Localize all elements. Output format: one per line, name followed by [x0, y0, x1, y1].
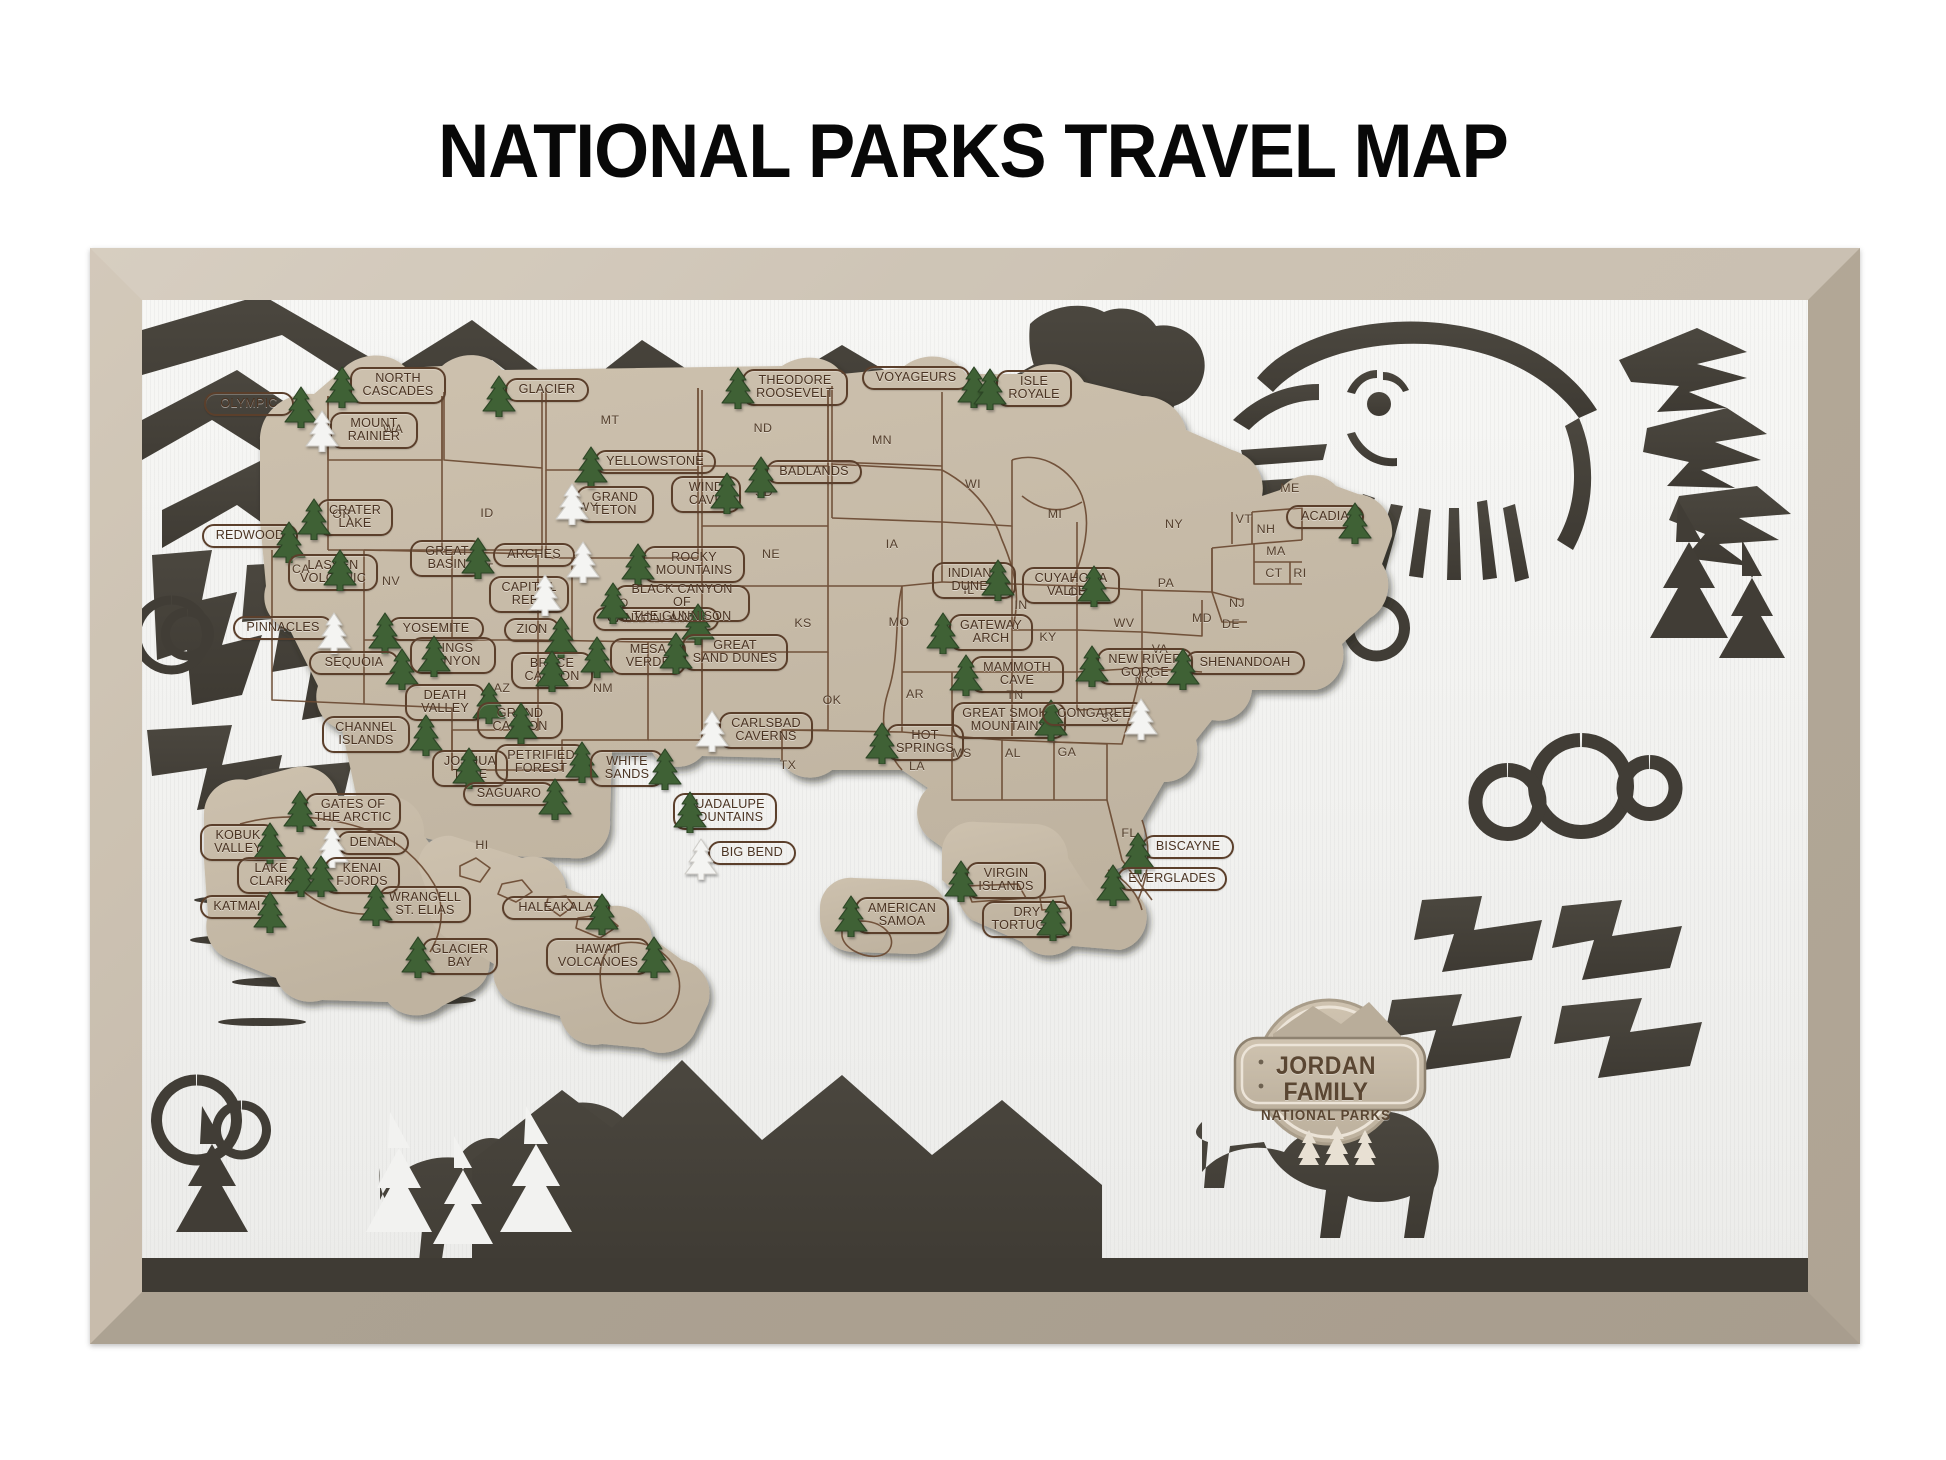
state-abbr-wv: WV [1114, 616, 1135, 630]
family-badge: JORDAN FAMILY NATIONAL PARKS [1217, 990, 1435, 1165]
tree-marker-bryce-canyon-visited[interactable] [535, 650, 569, 692]
tree-marker-kenai-fjords-visited[interactable] [304, 855, 338, 897]
tree-marker-glacier-bay-visited[interactable] [401, 936, 435, 978]
state-abbr-mo: MO [889, 615, 910, 629]
map-artwork-panel: WAORIDMTNDSDNEMNWIIAILMIINOHPANYWVKYMOKS… [142, 300, 1808, 1292]
state-abbr-nj: NJ [1229, 596, 1245, 610]
state-abbr-ky: KY [1039, 630, 1056, 644]
tree-marker-yellowstone-visited[interactable] [574, 446, 608, 488]
tree-marker-congaree-unvisited[interactable] [1124, 698, 1158, 740]
state-abbr-ks: KS [794, 616, 811, 630]
tree-marker-great-sand-dunes-visited[interactable] [659, 632, 693, 674]
state-abbr-nd: ND [754, 421, 773, 435]
state-abbr-nm: NM [593, 681, 613, 695]
tree-marker-mount-rainier-unvisited[interactable] [305, 410, 339, 452]
tree-marker-great-basin-visited[interactable] [461, 537, 495, 579]
tree-marker-badlands-visited[interactable] [744, 456, 778, 498]
tree-marker-guadalupe-mountains-visited[interactable] [673, 791, 707, 833]
park-label-olympic[interactable]: OLYMPIC [204, 392, 294, 416]
tree-marker-hawaii-volcanoes-visited[interactable] [637, 936, 671, 978]
park-label-carlsbad-caverns[interactable]: CARLSBAD CAVERNS [719, 712, 813, 749]
tree-marker-glacier-visited[interactable] [482, 375, 516, 417]
park-label-american-samoa[interactable]: AMERICAN SAMOA [855, 897, 949, 934]
tree-marker-mesa-verde-visited[interactable] [580, 636, 614, 678]
park-label-isle-royale[interactable]: ISLE ROYALE [996, 370, 1072, 407]
state-abbr-vt: VT [1236, 512, 1253, 526]
state-abbr-ga: GA [1058, 745, 1077, 759]
page-title: NATIONAL PARKS TRAVEL MAP [68, 108, 1878, 195]
state-abbr-ny: NY [1165, 517, 1183, 531]
state-abbr-mi: MI [1048, 507, 1063, 521]
tree-marker-grand-teton-unvisited[interactable] [555, 483, 589, 525]
tree-marker-american-samoa-visited[interactable] [834, 895, 868, 937]
state-abbr-nh: NH [1257, 522, 1276, 536]
tree-marker-white-sands-visited[interactable] [648, 748, 682, 790]
park-label-great-sand-dunes[interactable]: GREAT SAND DUNES [682, 634, 788, 671]
park-label-gates-of-the-arctic[interactable]: GATES OF THE ARCTIC [305, 793, 401, 830]
tree-marker-katmai-visited[interactable] [253, 891, 287, 933]
state-abbr-mn: MN [872, 433, 892, 447]
tree-marker-shenandoah-visited[interactable] [1166, 648, 1200, 690]
park-label-everglades[interactable]: EVERGLADES [1117, 867, 1227, 891]
park-label-voyageurs[interactable]: VOYAGEURS [862, 366, 970, 390]
state-abbr-ok: OK [823, 693, 842, 707]
park-label-badlands[interactable]: BADLANDS [766, 460, 862, 484]
state-abbr-ne: NE [762, 547, 780, 561]
tree-marker-cuyahoga-valley-visited[interactable] [1077, 565, 1111, 607]
tree-marker-isle-royale-visited[interactable] [973, 368, 1007, 410]
tree-marker-big-bend-unvisited[interactable] [684, 838, 718, 880]
tree-marker-virgin-islands-visited[interactable] [944, 860, 978, 902]
state-abbr-ct: CT [1265, 566, 1282, 580]
tree-marker-mammoth-cave-visited[interactable] [949, 654, 983, 696]
tree-marker-north-cascades-visited[interactable] [325, 366, 359, 408]
park-label-theodore-roosevelt[interactable]: THEODORE ROOSEVELT [742, 369, 848, 406]
state-abbr-la: LA [909, 759, 925, 773]
badge-line-2: FAMILY [1226, 1078, 1427, 1107]
tree-marker-capitol-reef-unvisited[interactable] [528, 574, 562, 616]
park-label-virgin-islands[interactable]: VIRGIN ISLANDS [966, 862, 1046, 899]
park-label-arches[interactable]: ARCHES [493, 543, 575, 567]
state-abbr-tx: TX [780, 758, 797, 772]
tree-marker-saguaro-visited[interactable] [538, 778, 572, 820]
tree-marker-wind-cave-visited[interactable] [710, 472, 744, 514]
tree-marker-dry-tortugas-visited[interactable] [1036, 899, 1070, 941]
tree-marker-rocky-mountains-visited[interactable] [621, 543, 655, 585]
state-abbr-pa: PA [1158, 576, 1174, 590]
tree-marker-grand-canyon-visited[interactable] [504, 702, 538, 744]
badge-line-3: NATIONAL PARKS [1226, 1108, 1427, 1124]
state-abbr-de: DE [1222, 617, 1240, 631]
park-label-hawaii-volcanoes[interactable]: HAWAII VOLCANOES [546, 938, 650, 975]
badge-line-1: JORDAN [1226, 1052, 1427, 1081]
state-abbr-ri: RI [1293, 566, 1306, 580]
state-abbr-nv: NV [382, 574, 400, 588]
park-label-yellowstone[interactable]: YELLOWSTONE [594, 450, 716, 474]
park-label-shenandoah[interactable]: SHENANDOAH [1185, 651, 1305, 675]
tree-marker-arches-unvisited[interactable] [566, 541, 600, 583]
tree-marker-lassen-volcanic-visited[interactable] [323, 549, 357, 591]
state-abbr-ar: AR [906, 687, 924, 701]
park-label-gateway-arch[interactable]: GATEWAY ARCH [949, 614, 1033, 651]
tree-marker-acadia-visited[interactable] [1338, 502, 1372, 544]
state-abbr-wi: WI [965, 477, 981, 491]
tree-marker-hot-springs-visited[interactable] [865, 722, 899, 764]
tree-marker-kings-canyon-visited[interactable] [417, 635, 451, 677]
tree-marker-everglades-visited[interactable] [1096, 864, 1130, 906]
tree-marker-black-canyon-of-the-gunnison-visited[interactable] [596, 582, 630, 624]
park-label-biscayne[interactable]: BISCAYNE [1142, 835, 1234, 859]
park-label-big-bend[interactable]: BIG BEND [708, 841, 796, 865]
state-abbr-mt: MT [601, 413, 620, 427]
park-label-channel-islands[interactable]: CHANNEL ISLANDS [322, 716, 410, 753]
national-parks-travel-map-page: NATIONAL PARKS TRAVEL MAP [0, 0, 1946, 1460]
tree-marker-gates-of-the-arctic-visited[interactable] [283, 790, 317, 832]
tree-marker-wrangell-st-elias-visited[interactable] [359, 884, 393, 926]
tree-marker-indiana-dunes-visited[interactable] [981, 559, 1015, 601]
park-label-mammoth-cave[interactable]: MAMMOTH CAVE [970, 656, 1064, 693]
park-label-mount-rainier[interactable]: MOUNT RAINIER [330, 412, 418, 449]
state-abbr-hi: HI [475, 838, 488, 852]
park-label-black-canyon-of-the-gunnison[interactable]: BLACK CANYON OF THE GUNNISON [614, 585, 750, 622]
tree-marker-new-river-gorge-visited[interactable] [1075, 645, 1109, 687]
state-abbr-al: AL [1005, 746, 1021, 760]
map-board-layer: WAORIDMTNDSDNEMNWIIAILMIINOHPANYWVKYMOKS… [142, 300, 1808, 1292]
tree-marker-pinnacles-unvisited[interactable] [317, 612, 351, 654]
tree-marker-carlsbad-caverns-unvisited[interactable] [695, 710, 729, 752]
state-abbr-md: MD [1192, 611, 1212, 625]
state-abbr-ia: IA [886, 537, 899, 551]
park-label-rocky-mountains[interactable]: ROCKY MOUNTAINS [643, 546, 745, 583]
park-label-north-cascades[interactable]: NORTH CASCADES [350, 367, 446, 404]
park-label-glacier[interactable]: GLACIER [505, 378, 589, 402]
tree-marker-gateway-arch-visited[interactable] [926, 612, 960, 654]
state-abbr-me: ME [1280, 481, 1299, 495]
state-abbr-ma: MA [1266, 544, 1285, 558]
state-abbr-id: ID [480, 506, 493, 520]
tree-marker-channel-islands-visited[interactable] [409, 714, 443, 756]
tree-marker-haleakala-visited[interactable] [585, 893, 619, 935]
tree-marker-theodore-roosevelt-visited[interactable] [721, 367, 755, 409]
